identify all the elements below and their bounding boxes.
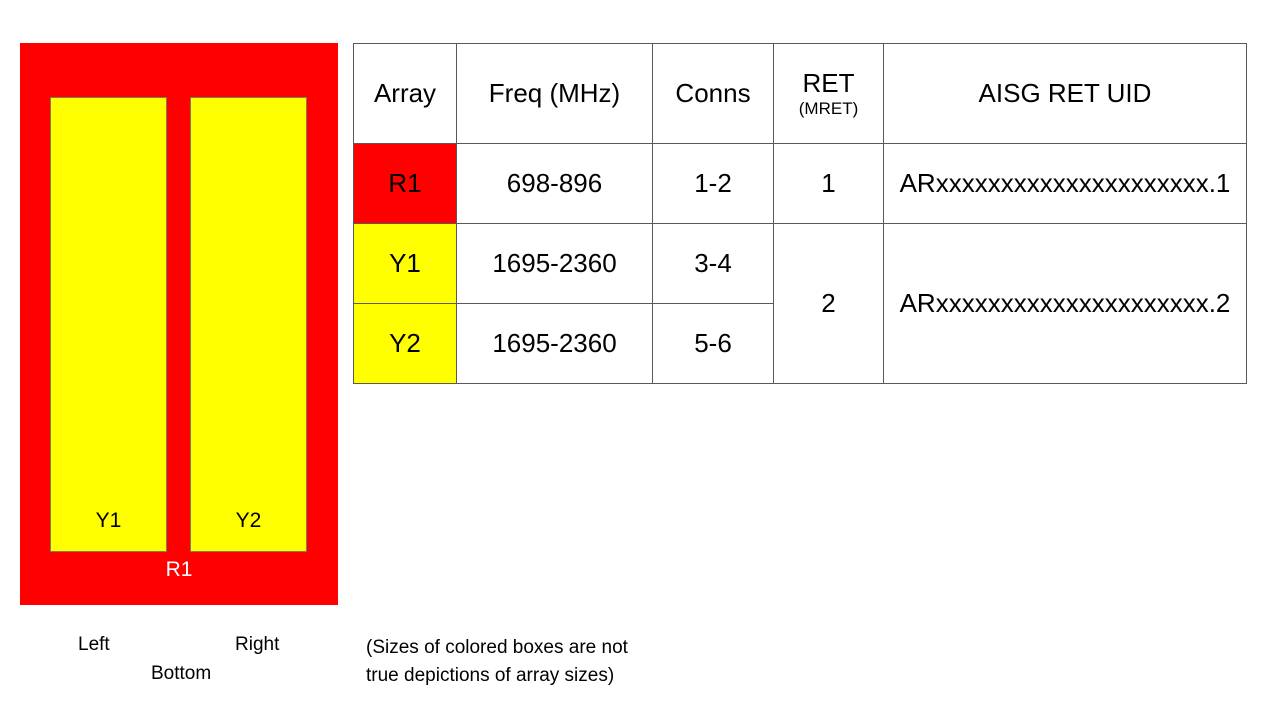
diagram-footnote-line-1: (Sizes of colored boxes are not [366,634,766,662]
cell-conns-y1: 3-4 [653,224,774,304]
orientation-label-bottom: Bottom [151,663,211,685]
cell-freq-y1: 1695-2360 [457,224,653,304]
array-box-y2: Y2 [190,97,307,552]
cell-ret-r1: 1 [774,144,884,224]
column-header-array: Array [354,44,457,144]
column-header-freq: Freq (MHz) [457,44,653,144]
orientation-labels: Left Right Bottom [20,630,338,700]
column-header-ret-main: RET [774,68,883,98]
diagram-footnote-line-2: true depictions of array sizes) [366,662,766,690]
cell-uid-r1: ARxxxxxxxxxxxxxxxxxxxxx.1 [884,144,1247,224]
array-box-y1-label: Y1 [96,510,122,551]
table-header-row: Array Freq (MHz) Conns RET (MRET) AISG R… [354,44,1247,144]
column-header-ret: RET (MRET) [774,44,884,144]
cell-freq-r1: 698-896 [457,144,653,224]
antenna-config-table: Array Freq (MHz) Conns RET (MRET) AISG R… [353,43,1247,384]
cell-conns-y2: 5-6 [653,304,774,384]
cell-array-y2: Y2 [354,304,457,384]
column-header-conns: Conns [653,44,774,144]
column-header-ret-sub: (MRET) [774,98,883,120]
orientation-label-right: Right [235,634,279,656]
cell-ret-y1-y2: 2 [774,224,884,384]
antenna-array-diagram: Y1 Y2 R1 [20,43,338,605]
cell-conns-r1: 1-2 [653,144,774,224]
table-row: R1 698-896 1-2 1 ARxxxxxxxxxxxxxxxxxxxxx… [354,144,1247,224]
cell-array-y1: Y1 [354,224,457,304]
diagram-footnote: (Sizes of colored boxes are not true dep… [366,634,766,690]
column-header-uid: AISG RET UID [884,44,1247,144]
cell-uid-y1-y2: ARxxxxxxxxxxxxxxxxxxxxx.2 [884,224,1247,384]
array-box-r1-label: R1 [20,559,338,580]
array-box-y2-label: Y2 [236,510,262,551]
array-box-y1: Y1 [50,97,167,552]
orientation-label-left: Left [78,634,110,656]
table-row: Y1 1695-2360 3-4 2 ARxxxxxxxxxxxxxxxxxxx… [354,224,1247,304]
cell-freq-y2: 1695-2360 [457,304,653,384]
cell-array-r1: R1 [354,144,457,224]
